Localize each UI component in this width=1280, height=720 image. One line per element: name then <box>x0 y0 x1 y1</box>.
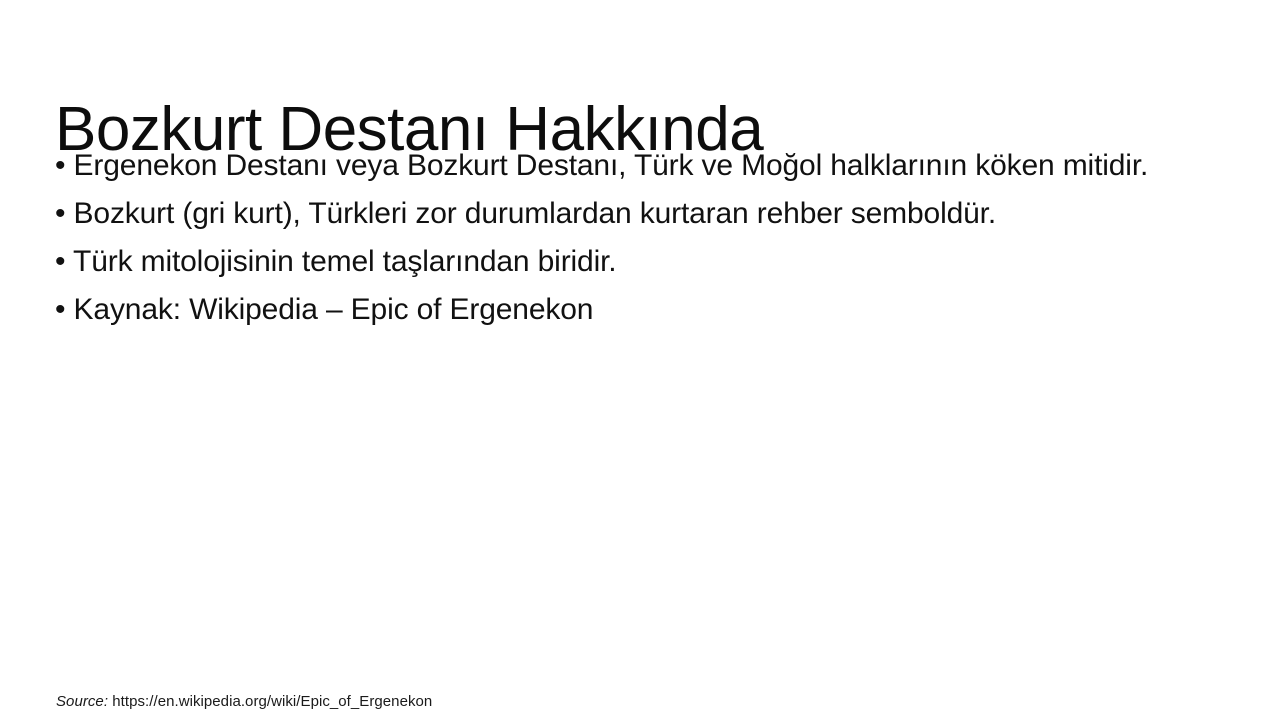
bullet-point-icon: • <box>55 245 65 278</box>
list-item-text: Bozkurt (gri kurt), Türkleri zor durumla… <box>74 197 997 230</box>
list-item: • Türk mitolojisinin temel taşlarından b… <box>55 242 1163 281</box>
list-item-text: Türk mitolojisinin temel taşlarından bir… <box>73 245 616 278</box>
bullet-point-icon: • <box>55 293 65 326</box>
slide-canvas: Bozkurt Destanı Hakkında • Ergenekon Des… <box>0 0 1280 720</box>
source-url: https://en.wikipedia.org/wiki/Epic_of_Er… <box>112 693 432 710</box>
bullet-list: • Ergenekon Destanı veya Bozkurt Destanı… <box>55 146 1163 329</box>
bullet-point-icon: • <box>55 197 65 230</box>
list-item-text: Ergenekon Destanı veya Bozkurt Destanı, … <box>74 149 1149 182</box>
list-item: • Ergenekon Destanı veya Bozkurt Destanı… <box>55 146 1163 185</box>
source-citation: Source: https://en.wikipedia.org/wiki/Ep… <box>56 691 432 712</box>
bullet-point-icon: • <box>55 149 65 182</box>
source-label: Source: <box>56 693 108 710</box>
list-item: • Bozkurt (gri kurt), Türkleri zor durum… <box>55 194 1163 233</box>
list-item-text: Kaynak: Wikipedia – Epic of Ergenekon <box>74 293 594 326</box>
list-item: • Kaynak: Wikipedia – Epic of Ergenekon <box>55 290 1163 329</box>
